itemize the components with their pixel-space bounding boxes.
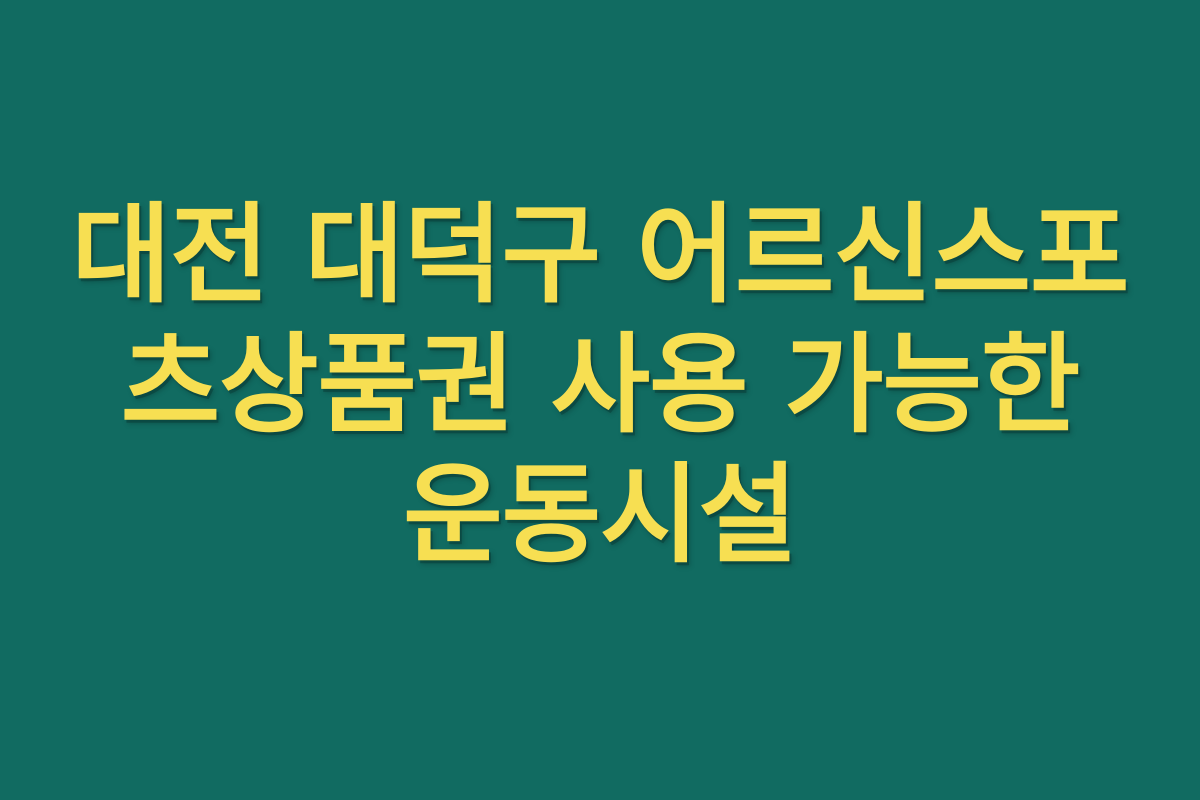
page-title: 대전 대덕구 어르신스포 츠상품권 사용 가능한 운동시설 <box>70 191 1130 581</box>
title-card: 대전 대덕구 어르신스포 츠상품권 사용 가능한 운동시설 <box>0 0 1200 800</box>
headline-line-3: 운동시설 <box>70 451 1130 581</box>
headline-line-1: 대전 대덕구 어르신스포 <box>70 191 1130 321</box>
headline-line-2: 츠상품권 사용 가능한 <box>70 321 1130 451</box>
